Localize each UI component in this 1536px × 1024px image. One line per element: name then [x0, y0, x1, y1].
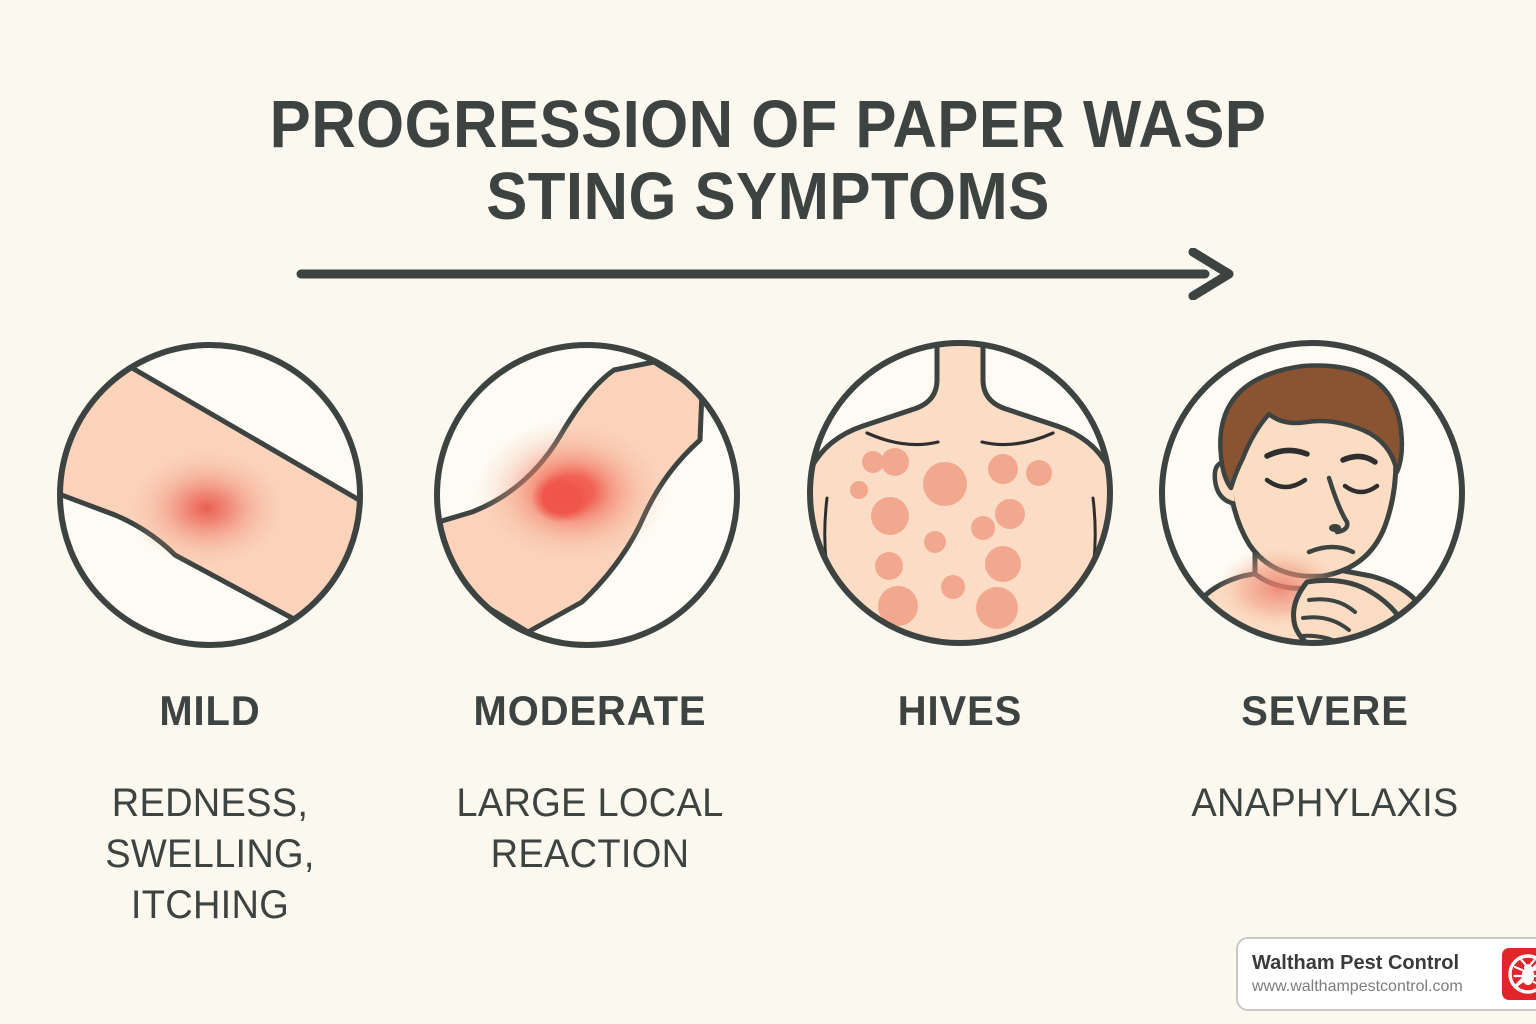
stage-label-mild: MILD [39, 690, 381, 732]
stage-description-severe: ANAPHYLAXIS [1140, 778, 1511, 829]
title-line-2: STING SYMPTOMS [61, 161, 1474, 233]
nostril [1329, 524, 1341, 532]
stage-captions: MILD REDNESS, SWELLING, ITCHING MODERATE… [0, 690, 1536, 950]
stage-illustration-severe [1157, 338, 1467, 648]
hives-torso-icon [805, 338, 1115, 648]
company-website[interactable]: www.walthampestcontrol.com [1252, 977, 1498, 996]
stage-label-moderate: MODERATE [410, 690, 771, 732]
stage-description-moderate: LARGE LOCAL REACTION [410, 778, 771, 880]
company-name: Waltham Pest Control [1252, 952, 1498, 975]
stage-label-hives: HIVES [803, 690, 1117, 732]
page-title: PROGRESSION OF PAPER WASP STING SYMPTOMS [61, 89, 1474, 234]
stage-caption-moderate: MODERATE LARGE LOCAL REACTION [400, 690, 780, 880]
stage-illustrations [0, 335, 1536, 675]
stage-caption-hives: HIVES [795, 690, 1125, 732]
infographic-canvas: PROGRESSION OF PAPER WASP STING SYMPTOMS [0, 0, 1536, 1024]
progression-arrow [295, 248, 1235, 300]
no-pest-icon [1502, 948, 1536, 1000]
stage-illustration-mild [55, 340, 365, 650]
sting-core [531, 473, 593, 523]
mild-forearm-icon [55, 340, 365, 650]
stage-caption-mild: MILD REDNESS, SWELLING, ITCHING [30, 690, 390, 932]
severe-anaphylaxis-icon [1157, 338, 1467, 648]
logo-text-block: Waltham Pest Control www.walthampestcont… [1252, 952, 1498, 996]
sting-redness [129, 450, 285, 566]
arrow-icon [295, 248, 1235, 300]
title-line-1: PROGRESSION OF PAPER WASP [270, 87, 1267, 162]
stage-illustration-hives [805, 338, 1115, 648]
moderate-forearm-icon [432, 340, 742, 650]
stage-description-mild: REDNESS, SWELLING, ITCHING [39, 778, 381, 932]
stage-caption-severe: SEVERE ANAPHYLAXIS [1130, 690, 1520, 829]
stage-label-severe: SEVERE [1140, 690, 1511, 732]
stage-illustration-moderate [432, 340, 742, 650]
company-logo-badge[interactable]: Waltham Pest Control www.walthampestcont… [1236, 937, 1536, 1011]
